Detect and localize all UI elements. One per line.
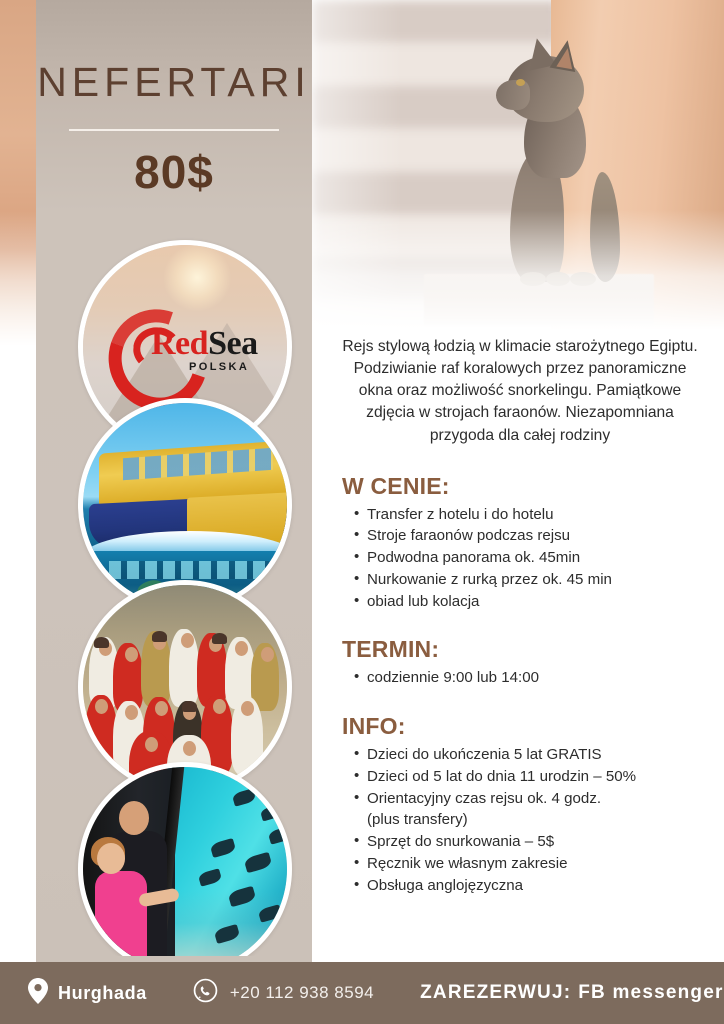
person-head [145,737,158,752]
section-list: codziennie 9:00 lub 14:00 [336,667,704,689]
section-list: Transfer z hotelu i do hotelu Stroje far… [336,504,704,613]
list-item-continuation: (plus transfery) [354,809,704,831]
person-head [95,699,108,714]
panoramic-window-photo-circle [78,762,292,976]
person-hair [152,631,167,642]
title-block: NEFERTARI 80$ [36,62,312,199]
person-hair [94,637,109,648]
underwater-panorama-windows [109,561,269,579]
logo-wordmark: RedSea [151,325,258,363]
section-heading: INFO: [342,713,704,740]
list-item: codziennie 9:00 lub 14:00 [354,667,704,689]
footer-whatsapp[interactable]: +20 112 938 8594 [193,978,374,1008]
price-label: 80$ [36,145,312,199]
cat-muzzle [496,80,530,110]
title-divider [69,129,279,131]
list-item: Sprzęt do snurkowania – 5$ [354,831,704,853]
person-hair [182,701,197,712]
logo-word-sea: Sea [208,325,258,362]
logo-subtitle: POLSKA [189,361,249,373]
footer-cta-label: ZAREZERWUJ: [420,982,571,1004]
list-item: Podwodna panorama ok. 45min [354,547,704,569]
person-head [181,633,194,648]
list-item: Nurkowanie z rurką przez ok. 45 min [354,569,704,591]
person-head [183,741,196,756]
cat-eye [516,79,525,86]
section-termin: TERMIN: codziennie 9:00 lub 14:00 [336,636,704,689]
page-title: NEFERTARI [36,62,312,103]
section-heading: W CENIE: [342,473,704,500]
list-item: Orientacyjny czas rejsu ok. 4 godz. [354,788,704,810]
footer-cta[interactable]: ZAREZERWUJ: FB messenger [420,982,723,1004]
person-head [241,701,254,716]
person-head [155,701,168,716]
child-head [97,843,125,874]
person-head [235,641,248,656]
location-pin-icon [28,978,48,1009]
footer-phone-number: +20 112 938 8594 [230,983,374,1003]
cat-ear-right-inner [556,47,575,69]
person-hair [212,633,227,644]
list-item: Dzieci od 5 lat do dnia 11 urodzin – 50% [354,766,704,788]
list-item: obiad lub kolacja [354,591,704,613]
adult-head [119,801,149,835]
whatsapp-icon [193,978,218,1008]
section-heading: TERMIN: [342,636,704,663]
list-item: Obsługa anglojęzyczna [354,875,704,897]
footer-bar: Hurghada +20 112 938 8594 ZAREZERWUJ: FB… [0,962,724,1024]
person-head [213,699,226,714]
left-edge-strip [0,0,36,962]
list-item: Stroje faraonów podczas rejsu [354,525,704,547]
footer-location: Hurghada [28,978,147,1009]
content-column: Rejs stylową łodzią w klimacie starożytn… [336,336,704,920]
list-item: Dzieci do ukończenia 5 lat GRATIS [354,744,704,766]
list-item: Ręcznik we własnym zakresie [354,853,704,875]
section-w-cenie: W CENIE: Transfer z hotelu i do hotelu S… [336,473,704,613]
description-paragraph: Rejs stylową łodzią w klimacie starożytn… [336,336,704,447]
hero-cat-photo [312,0,724,330]
list-item: Transfer z hotelu i do hotelu [354,504,704,526]
person-head [125,647,138,662]
footer-location-label: Hurghada [58,983,147,1004]
person-head [125,705,138,720]
poster-page: NEFERTARI 80$ RedSea POLSKA [0,0,724,1024]
hero-bottom-fade [312,210,724,330]
section-info: INFO: Dzieci do ukończenia 5 lat GRATIS … [336,713,704,896]
section-list: Dzieci do ukończenia 5 lat GRATIS Dzieci… [336,744,704,896]
logo-word-red: Red [151,325,208,362]
person-head [261,647,274,662]
footer-cta-value: FB messenger [578,982,723,1004]
